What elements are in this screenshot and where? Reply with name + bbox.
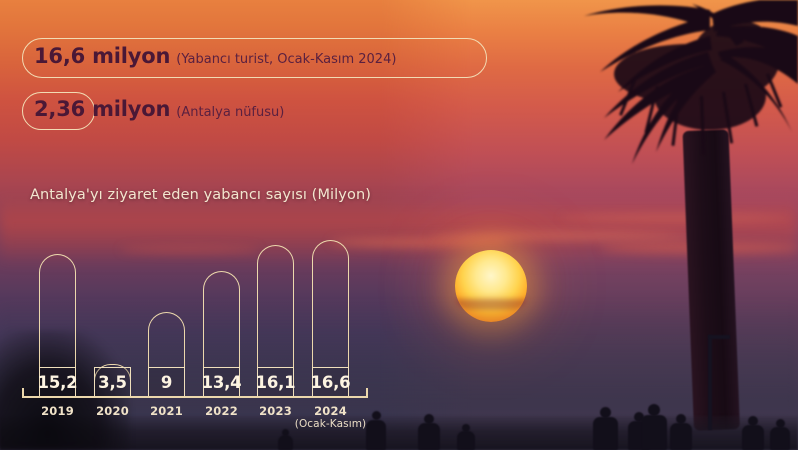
- bar-value-label: 9: [148, 367, 185, 397]
- infographic-overlay: 16,6 milyon(Yabancı turist, Ocak-Kasım 2…: [0, 0, 798, 450]
- x-axis-tick-left: [22, 388, 24, 397]
- x-axis-label: 2020: [82, 404, 143, 418]
- x-axis-line: [22, 396, 368, 398]
- bar-value-label: 16,1: [257, 367, 294, 397]
- infographic-canvas: 16,6 milyon(Yabancı turist, Ocak-Kasım 2…: [0, 0, 798, 450]
- bar-chart: 15,220193,520209202113,4202216,1202316,6…: [0, 0, 798, 450]
- bar-value-label: 16,6: [312, 367, 349, 397]
- x-axis-label: 2024: [300, 404, 361, 418]
- x-axis-label: 2022: [191, 404, 252, 418]
- x-axis-sublabel: (Ocak-Kasım): [284, 418, 377, 430]
- x-axis-label: 2019: [27, 404, 88, 418]
- x-axis-label: 2021: [136, 404, 197, 418]
- bar-value-label: 13,4: [203, 367, 240, 397]
- x-axis-label: 2023: [245, 404, 306, 418]
- bar-value-label: 15,2: [39, 367, 76, 397]
- bar-value-label: 3,5: [94, 367, 131, 397]
- x-axis-tick-right: [366, 388, 368, 397]
